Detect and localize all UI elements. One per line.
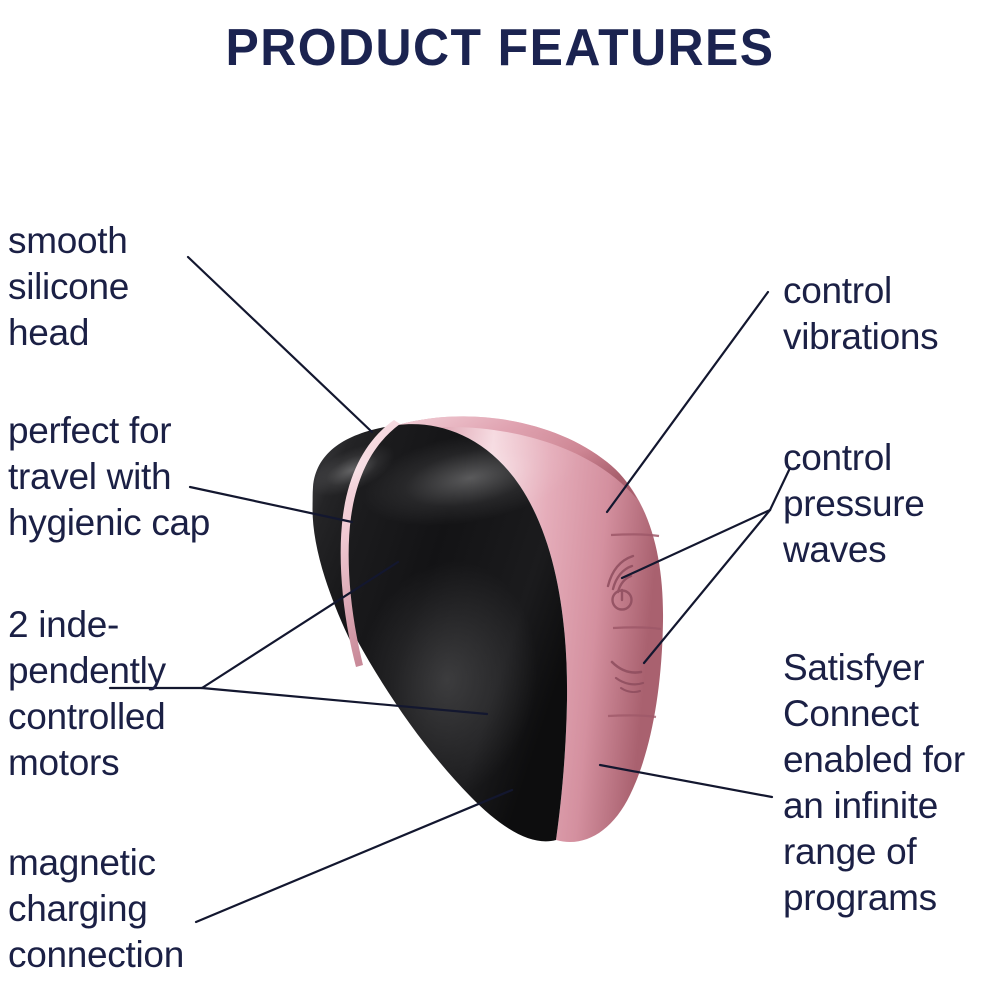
callout-two-motors: 2 inde- pendently controlled motors: [8, 602, 166, 786]
callout-hygienic-cap: perfect for travel with hygienic cap: [8, 408, 210, 546]
callout-magnetic-charging: magnetic charging connection: [8, 840, 184, 978]
callout-control-vibrations: control vibrations: [783, 268, 938, 360]
callout-satisfyer-connect: Satisfyer Connect enabled for an infinit…: [783, 645, 965, 921]
callout-smooth-silicone-head: smooth silicone head: [8, 218, 129, 356]
product-features-infographic: PRODUCT FEATURES: [0, 0, 1000, 1000]
callout-control-pressure-waves: control pressure waves: [783, 435, 925, 573]
